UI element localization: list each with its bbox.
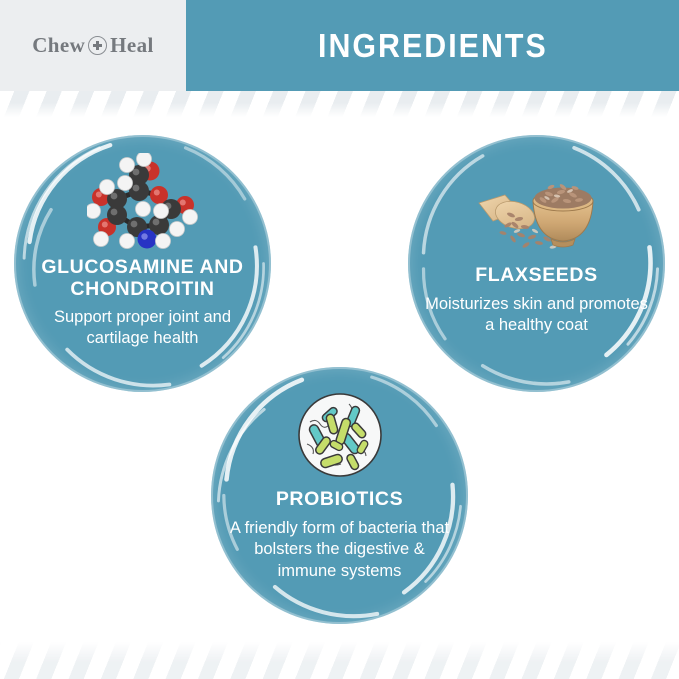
brand-logo-word-two: Heal (110, 33, 154, 58)
ingredient-description: A friendly form of bacteria that bolster… (211, 518, 468, 582)
molecule-icon (87, 153, 199, 253)
ingredient-card-flaxseeds: FLAXSEEDS Moisturizes skin and promotes … (408, 135, 665, 392)
ingredient-description: Moisturizes skin and promotes a healthy … (408, 294, 665, 337)
ingredient-card-glucosamine-and-chondroitin: GLUCOSAMINE AND CHONDROITIN Support prop… (14, 135, 271, 392)
ingredients-infographic: Chew Heal INGREDIENTS (0, 0, 679, 679)
page-title: INGREDIENTS (318, 27, 548, 65)
ingredient-heading: GLUCOSAMINE AND CHONDROITIN (14, 257, 271, 301)
plus-circle-icon (88, 36, 107, 55)
brand-logo: Chew Heal (0, 0, 186, 91)
brand-logo-text: Chew Heal (32, 33, 154, 58)
stripes-top-fade (0, 91, 679, 117)
bacteria-icon (297, 392, 383, 478)
ingredient-icon-wrapper (297, 387, 383, 483)
ingredient-card-probiotics: PROBIOTICS A friendly form of bacteria t… (211, 367, 468, 624)
ingredient-heading: PROBIOTICS (268, 489, 411, 511)
ingredient-icon-wrapper (87, 151, 199, 255)
header-bar: Chew Heal INGREDIENTS (0, 0, 679, 91)
brand-logo-word-one: Chew (32, 33, 85, 58)
flaxseed-bowl-icon (475, 159, 599, 255)
header-title-panel: INGREDIENTS (186, 0, 679, 91)
ingredient-heading: FLAXSEEDS (467, 265, 605, 287)
stripes-bottom-fade (0, 642, 679, 679)
ingredient-description: Support proper joint and cartilage healt… (14, 307, 271, 350)
ingredient-icon-wrapper (475, 157, 599, 257)
